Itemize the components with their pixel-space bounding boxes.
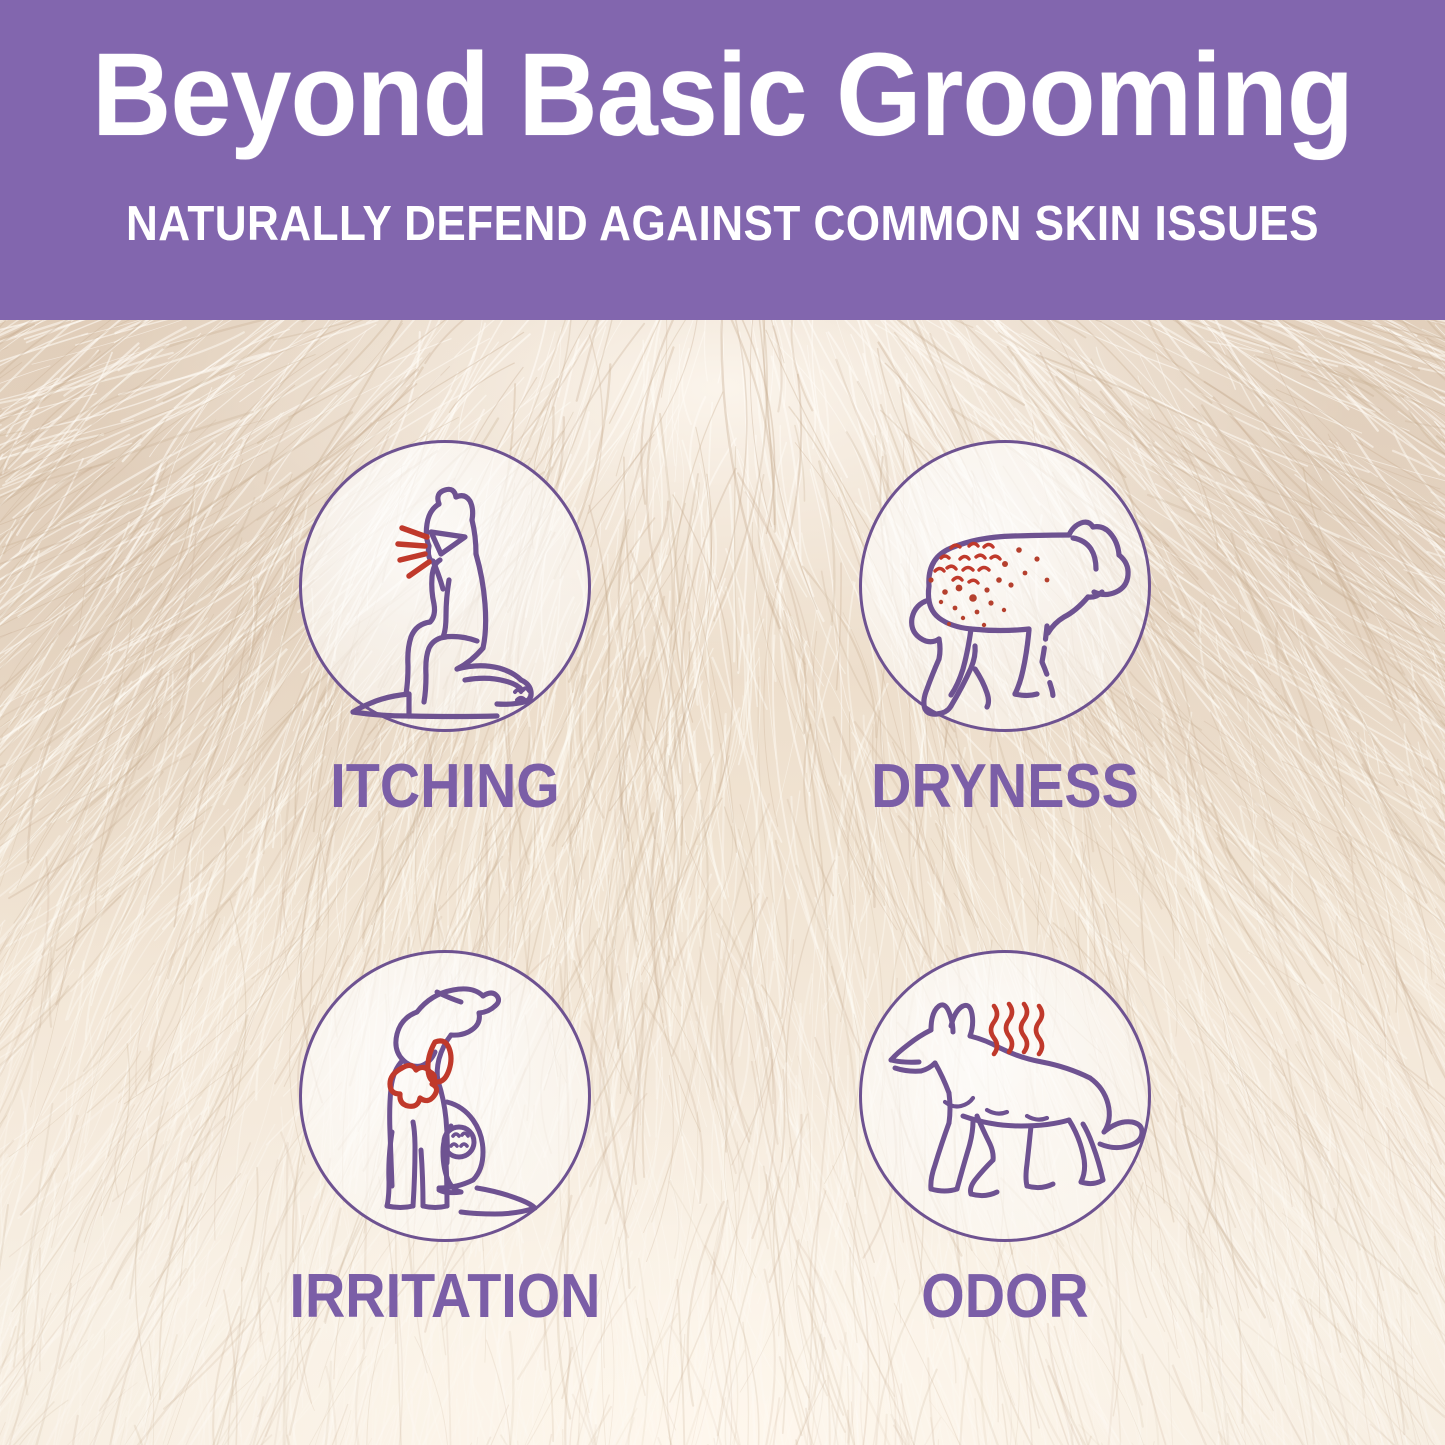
dog-odor-icon <box>859 950 1151 1242</box>
red-flake-dots <box>928 547 1049 627</box>
issue-card-irritation[interactable]: IRRITATION <box>215 950 675 1328</box>
odor-circle[interactable] <box>859 950 1151 1242</box>
issue-card-odor[interactable]: ODOR <box>775 950 1235 1328</box>
red-itch-lines <box>398 528 429 576</box>
issue-label-itching: ITCHING <box>238 756 652 818</box>
irritation-circle[interactable] <box>299 950 591 1242</box>
page-subtitle: NATURALLY DEFEND AGAINST COMMON SKIN ISS… <box>72 198 1373 250</box>
issue-label-odor: ODOR <box>798 1266 1212 1328</box>
dog-scratching-icon <box>299 440 591 732</box>
issue-label-irritation: IRRITATION <box>238 1266 652 1328</box>
promo-graphic: Beyond Basic Grooming NATURALLY DEFEND A… <box>0 0 1445 1445</box>
dog-irritated-patches-icon <box>299 950 591 1242</box>
dryness-circle[interactable] <box>859 440 1151 732</box>
issue-card-dryness[interactable]: DRYNESS <box>775 440 1235 818</box>
issue-card-itching[interactable]: ITCHING <box>215 440 675 818</box>
itching-circle[interactable] <box>299 440 591 732</box>
header-banner: Beyond Basic Grooming NATURALLY DEFEND A… <box>0 0 1445 320</box>
page-title: Beyond Basic Grooming <box>51 36 1395 154</box>
red-stink-lines <box>991 1004 1042 1054</box>
issue-label-dryness: DRYNESS <box>798 756 1212 818</box>
dog-flaky-skin-icon <box>859 440 1151 732</box>
issue-grid: ITCHING <box>0 320 1445 1445</box>
